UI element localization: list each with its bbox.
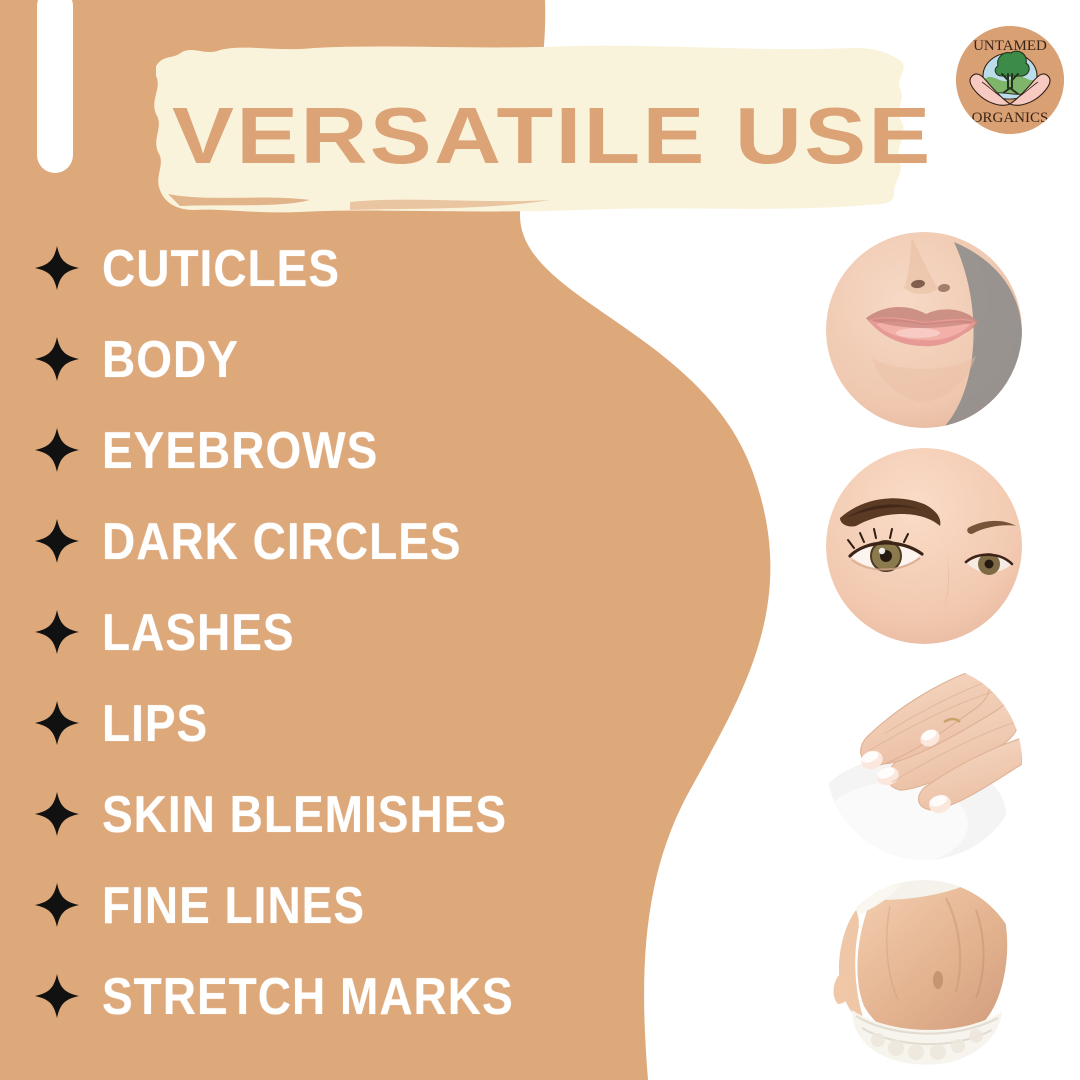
- sparkle-icon: [34, 973, 80, 1019]
- sparkle-icon: [34, 609, 80, 655]
- feature-label: FINE LINES: [102, 879, 365, 931]
- feature-label: SKIN BLEMISHES: [102, 788, 507, 840]
- photo-lips: [826, 232, 1022, 428]
- photo-lips-artwork: [826, 232, 1022, 428]
- logo-top-text: UNTAMED: [973, 38, 1047, 54]
- list-item: STRETCH MARKS: [0, 950, 560, 1041]
- list-item: SKIN BLEMISHES: [0, 768, 560, 859]
- feature-label: BODY: [102, 333, 239, 385]
- list-item: CUTICLES: [0, 222, 560, 313]
- logo-artwork: UNTAMED ORGANICS: [956, 26, 1064, 134]
- photo-hands-artwork: [826, 664, 1022, 860]
- feature-label: DARK CIRCLES: [102, 515, 462, 567]
- poster-canvas: VERSATILE USE UNTAMED ORGANICS: [0, 0, 1080, 1080]
- feature-label: LASHES: [102, 606, 295, 658]
- brand-logo: UNTAMED ORGANICS: [956, 26, 1064, 134]
- photo-hands: [826, 664, 1022, 860]
- list-item: EYEBROWS: [0, 404, 560, 495]
- photo-eyebrows: [826, 448, 1022, 644]
- sparkle-icon: [34, 791, 80, 837]
- title-banner: VERSATILE USE: [150, 44, 910, 214]
- page-title: VERSATILE USE: [172, 96, 1007, 176]
- sparkle-icon: [34, 518, 80, 564]
- list-item: BODY: [0, 313, 560, 404]
- feature-label: CUTICLES: [102, 242, 340, 294]
- photo-eyebrows-artwork: [826, 448, 1022, 644]
- list-item: LIPS: [0, 677, 560, 768]
- list-item: LASHES: [0, 586, 560, 677]
- feature-list: CUTICLES BODY EYEBROWS DARK CIRCLES LASH: [0, 222, 560, 1041]
- list-item: FINE LINES: [0, 859, 560, 950]
- accent-bar: [37, 0, 73, 173]
- sparkle-icon: [34, 245, 80, 291]
- feature-label: LIPS: [102, 697, 208, 749]
- photo-body: [826, 880, 1022, 1076]
- photo-body-artwork: [826, 880, 1022, 1076]
- logo-bottom-text: ORGANICS: [972, 110, 1049, 126]
- sparkle-icon: [34, 427, 80, 473]
- sparkle-icon: [34, 336, 80, 382]
- list-item: DARK CIRCLES: [0, 495, 560, 586]
- feature-label: EYEBROWS: [102, 424, 378, 476]
- sparkle-icon: [34, 700, 80, 746]
- feature-label: STRETCH MARKS: [102, 970, 514, 1022]
- sparkle-icon: [34, 882, 80, 928]
